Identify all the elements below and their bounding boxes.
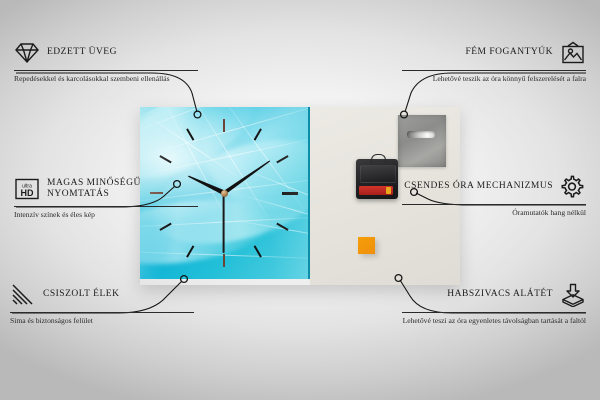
feature-polished-edges: CSISZOLT ÉLEK Sima és biztonságos felüle… bbox=[10, 282, 194, 325]
clock-battery bbox=[359, 186, 393, 195]
feature-description: Óramutatók hang nélkül bbox=[402, 208, 586, 217]
battery-terminal bbox=[386, 187, 391, 194]
feature-description: Lehetővé teszi az óra egyenletes távolsá… bbox=[402, 316, 586, 325]
svg-text:HD: HD bbox=[21, 188, 34, 198]
clock-mechanism bbox=[356, 159, 398, 199]
divider bbox=[402, 312, 586, 313]
clock-tick bbox=[223, 119, 225, 193]
divider bbox=[402, 70, 586, 71]
feature-title: FÉM FOGANTYÚK bbox=[465, 47, 553, 59]
feature-description: Sima és biztonságos felület bbox=[10, 316, 194, 325]
feature-tempered-glass: EDZETT ÜVEG Repedésekkel és karcolásokka… bbox=[14, 40, 198, 83]
foam-pad-arrow-icon bbox=[560, 282, 586, 308]
feature-title: HABSZIVACS ALÁTÉT bbox=[447, 289, 553, 301]
hanger-slot bbox=[407, 131, 435, 138]
feature-description: Repedésekkel és karcolásokkal szembeni e… bbox=[14, 74, 198, 83]
divider bbox=[14, 206, 198, 207]
clock-center-cap bbox=[221, 190, 228, 197]
divider bbox=[14, 70, 198, 71]
clock-tick bbox=[224, 192, 298, 194]
mechanism-hanging-loop bbox=[371, 154, 386, 163]
feature-hd-print: ultra HD MAGAS MINŐSÉGŰ NYOMTATÁS Intenz… bbox=[14, 176, 198, 219]
feature-metal-handles: FÉM FOGANTYÚK Lehetővé teszik az óra kön… bbox=[402, 40, 586, 83]
feature-foam-pad: HABSZIVACS ALÁTÉT Lehetővé teszi az óra … bbox=[402, 282, 586, 325]
feature-quiet-mechanism: CSENDES ÓRA MECHANIZMUS Óramutatók hang … bbox=[402, 174, 586, 217]
diamond-icon bbox=[14, 40, 40, 66]
feature-title: MAGAS MINŐSÉGŰ NYOMTATÁS bbox=[47, 178, 198, 201]
feature-title: CSISZOLT ÉLEK bbox=[43, 289, 119, 301]
feature-description: Intenzív színek és éles kép bbox=[14, 210, 198, 219]
metal-hanger-plate bbox=[398, 115, 446, 167]
gear-icon bbox=[560, 174, 586, 200]
ultra-hd-icon: ultra HD bbox=[14, 176, 40, 202]
feature-description: Lehetővé teszik az óra könnyű felszerelé… bbox=[402, 74, 586, 83]
picture-frame-icon bbox=[560, 40, 586, 66]
foam-pad bbox=[358, 237, 375, 254]
divider bbox=[402, 204, 586, 205]
feature-title: CSENDES ÓRA MECHANIZMUS bbox=[404, 181, 553, 193]
infographic-canvas: EDZETT ÜVEG Repedésekkel és karcolásokka… bbox=[0, 0, 600, 400]
mechanism-panel bbox=[360, 165, 396, 183]
divider bbox=[10, 312, 194, 313]
feature-title: EDZETT ÜVEG bbox=[47, 47, 117, 59]
polished-edge-icon bbox=[10, 282, 36, 308]
clock-second-hand bbox=[223, 193, 225, 253]
